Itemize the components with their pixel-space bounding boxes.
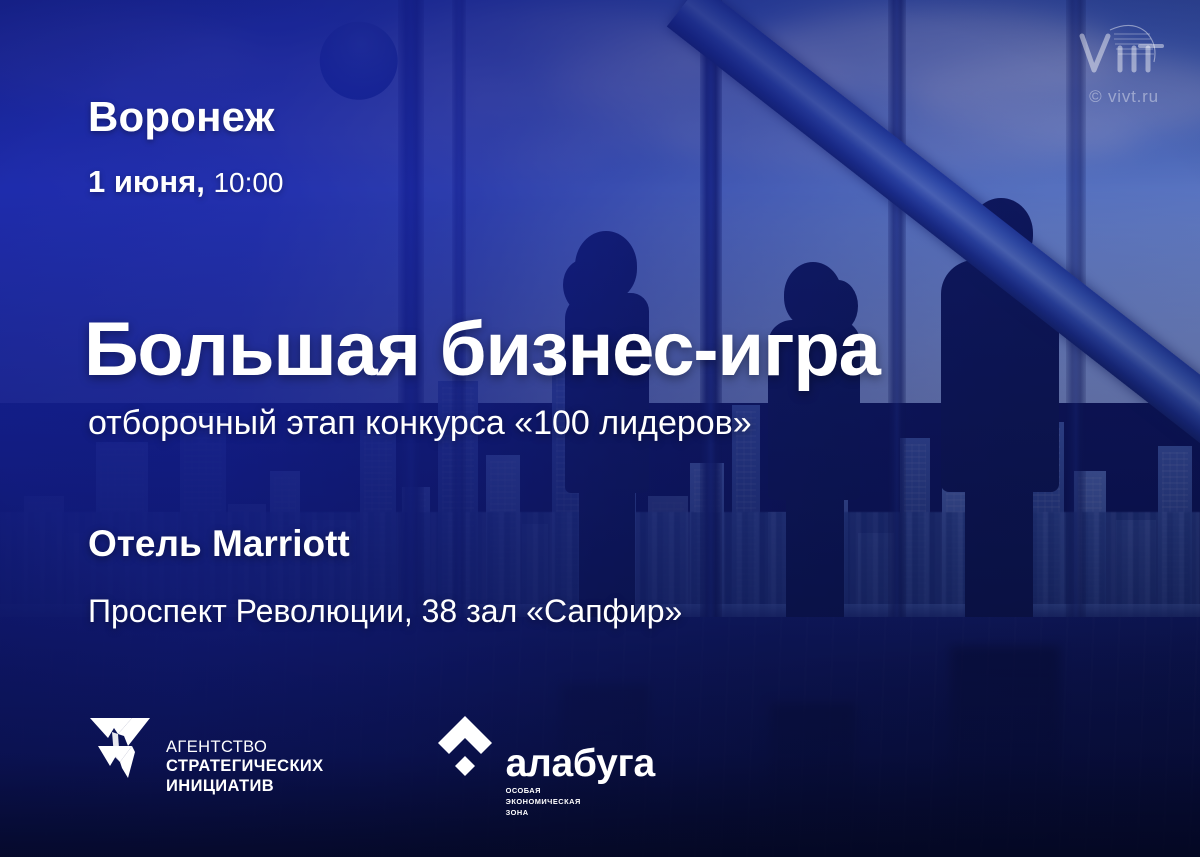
asi-logo: АГЕНТСТВО СТРАТЕГИЧЕСКИХ ИНИЦИАТИВ — [88, 712, 324, 796]
alabuga-descriptor-line-3: зона — [506, 807, 655, 818]
vivt-monogram-icon — [1070, 67, 1178, 84]
asi-arrow-mark-icon — [88, 712, 154, 795]
asi-logo-text: АГЕНТСТВО СТРАТЕГИЧЕСКИХ ИНИЦИАТИВ — [166, 712, 324, 796]
alabuga-logo-text: алабуга особая экономическая зона — [506, 712, 655, 818]
city-name: Воронеж — [88, 96, 275, 138]
event-poster: Воронеж 1 июня, 10:00 Большая бизнес-игр… — [0, 0, 1200, 857]
asi-line-2: СТРАТЕГИЧЕСКИХ — [166, 757, 324, 776]
alabuga-descriptor-line-2: экономическая — [506, 796, 655, 807]
event-time: 10:00 — [213, 167, 283, 198]
sponsor-logos: АГЕНТСТВО СТРАТЕГИЧЕСКИХ ИНИЦИАТИВ алабу… — [88, 712, 655, 818]
asi-line-3: ИНИЦИАТИВ — [166, 777, 324, 796]
alabuga-descriptor-line-1: особая — [506, 785, 655, 796]
watermark: © vivt.ru — [1070, 18, 1178, 107]
venue-address: Проспект Революции, 38 зал «Сапфир» — [88, 595, 682, 627]
page-title: Большая бизнес-игра — [84, 312, 880, 388]
asi-line-1: АГЕНТСТВО — [166, 738, 324, 757]
alabuga-logo: алабуга особая экономическая зона — [436, 712, 655, 818]
event-date: 1 июня, — [88, 164, 205, 199]
venue-name: Отель Marriott — [88, 525, 350, 562]
poster-content: Воронеж 1 июня, 10:00 Большая бизнес-игр… — [0, 0, 1200, 857]
event-datetime: 1 июня, 10:00 — [88, 166, 284, 197]
alabuga-wordmark: алабуга — [506, 716, 655, 782]
watermark-url: © vivt.ru — [1070, 87, 1178, 107]
alabuga-chevron-mark-icon — [436, 712, 494, 790]
page-subtitle: отборочный этап конкурса «100 лидеров» — [88, 406, 752, 440]
alabuga-descriptor: особая экономическая зона — [506, 782, 655, 818]
